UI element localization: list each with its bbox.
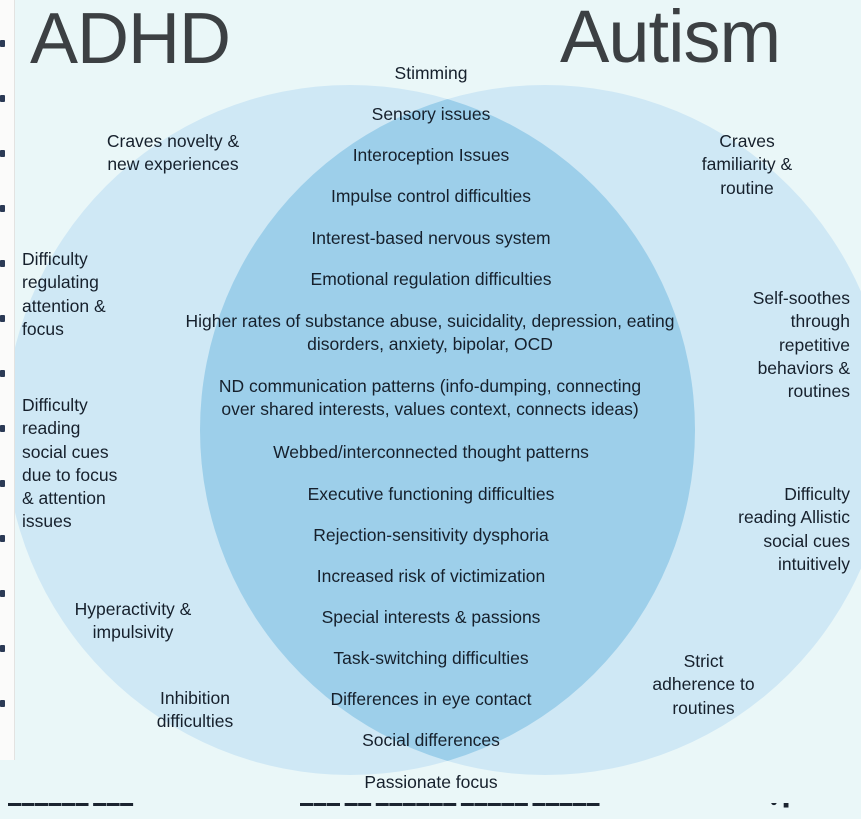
sidebar-tick <box>0 425 5 432</box>
shared-trait-executive-functioning: Executive functioning difficulties <box>231 483 631 506</box>
caption-center-partial: ▬▬▬ ▬▬ ▬▬▬▬▬▬ ▬▬▬▬▬ ▬▬▬▬▬ <box>300 803 600 809</box>
sidebar-tick <box>0 260 5 267</box>
shared-trait-nd-communication-patterns: ND communication patterns (info-dumping,… <box>155 375 705 422</box>
autism-trait-self-soothes: Self-soothes through repetitive behavior… <box>690 287 850 403</box>
adhd-title: ADHD <box>30 0 230 80</box>
shared-trait-task-switching: Task-switching difficulties <box>231 647 631 670</box>
sidebar-tick <box>0 590 5 597</box>
shared-trait-higher-rates-comorbidities: Higher rates of substance abuse, suicida… <box>140 310 720 357</box>
sidebar-tick <box>0 315 5 322</box>
sidebar-tick <box>0 95 5 102</box>
shared-trait-interest-based-nervous-system: Interest-based nervous system <box>231 227 631 250</box>
cropped-sidebar-strip[interactable] <box>0 0 15 760</box>
shared-trait-interoception-issues: Interoception Issues <box>231 144 631 167</box>
caption-left-partial: ▬▬▬▬▬▬ ▬▬▬ <box>8 803 134 809</box>
sidebar-tick <box>0 535 5 542</box>
sidebar-tick <box>0 150 5 157</box>
autism-trait-craves-familiarity: Craves familiarity & routine <box>672 130 822 200</box>
sidebar-tick <box>0 370 5 377</box>
sidebar-tick <box>0 480 5 487</box>
autism-trait-difficulty-reading-allistic-cues: Difficulty reading Allistic social cues … <box>678 483 850 576</box>
shared-trait-impulse-control: Impulse control difficulties <box>231 185 631 208</box>
shared-trait-passionate-focus: Passionate focus <box>231 771 631 794</box>
caption-right-partial: ● ▮ <box>770 803 790 810</box>
adhd-trait-difficulty-reading-social-cues: Difficulty reading social cues due to fo… <box>22 394 162 534</box>
shared-trait-rejection-sensitivity-dysphoria: Rejection-sensitivity dysphoria <box>231 524 631 547</box>
venn-diagram-canvas: ADHD Autism Craves novelty & new experie… <box>0 0 861 819</box>
shared-trait-webbed-thought-patterns: Webbed/interconnected thought patterns <box>231 441 631 464</box>
autism-trait-strict-adherence: Strict adherence to routines <box>616 650 791 720</box>
sidebar-tick <box>0 40 5 47</box>
shared-trait-sensory-issues: Sensory issues <box>231 103 631 126</box>
shared-trait-special-interests: Special interests & passions <box>231 606 631 629</box>
shared-trait-increased-risk-victimization: Increased risk of victimization <box>231 565 631 588</box>
shared-trait-social-differences: Social differences <box>231 729 631 752</box>
adhd-trait-hyperactivity-impulsivity: Hyperactivity & impulsivity <box>38 598 228 645</box>
shared-trait-emotional-regulation: Emotional regulation difficulties <box>231 268 631 291</box>
cropped-caption-row: ▬▬▬▬▬▬ ▬▬▬ ▬▬▬ ▬▬ ▬▬▬▬▬▬ ▬▬▬▬▬ ▬▬▬▬▬ ● ▮ <box>0 803 861 819</box>
shared-trait-stimming: Stimming <box>231 62 631 85</box>
sidebar-tick <box>0 700 5 707</box>
sidebar-tick <box>0 645 5 652</box>
shared-trait-eye-contact: Differences in eye contact <box>231 688 631 711</box>
sidebar-tick <box>0 205 5 212</box>
adhd-trait-difficulty-regulating-attention: Difficulty regulating attention & focus <box>22 248 152 341</box>
